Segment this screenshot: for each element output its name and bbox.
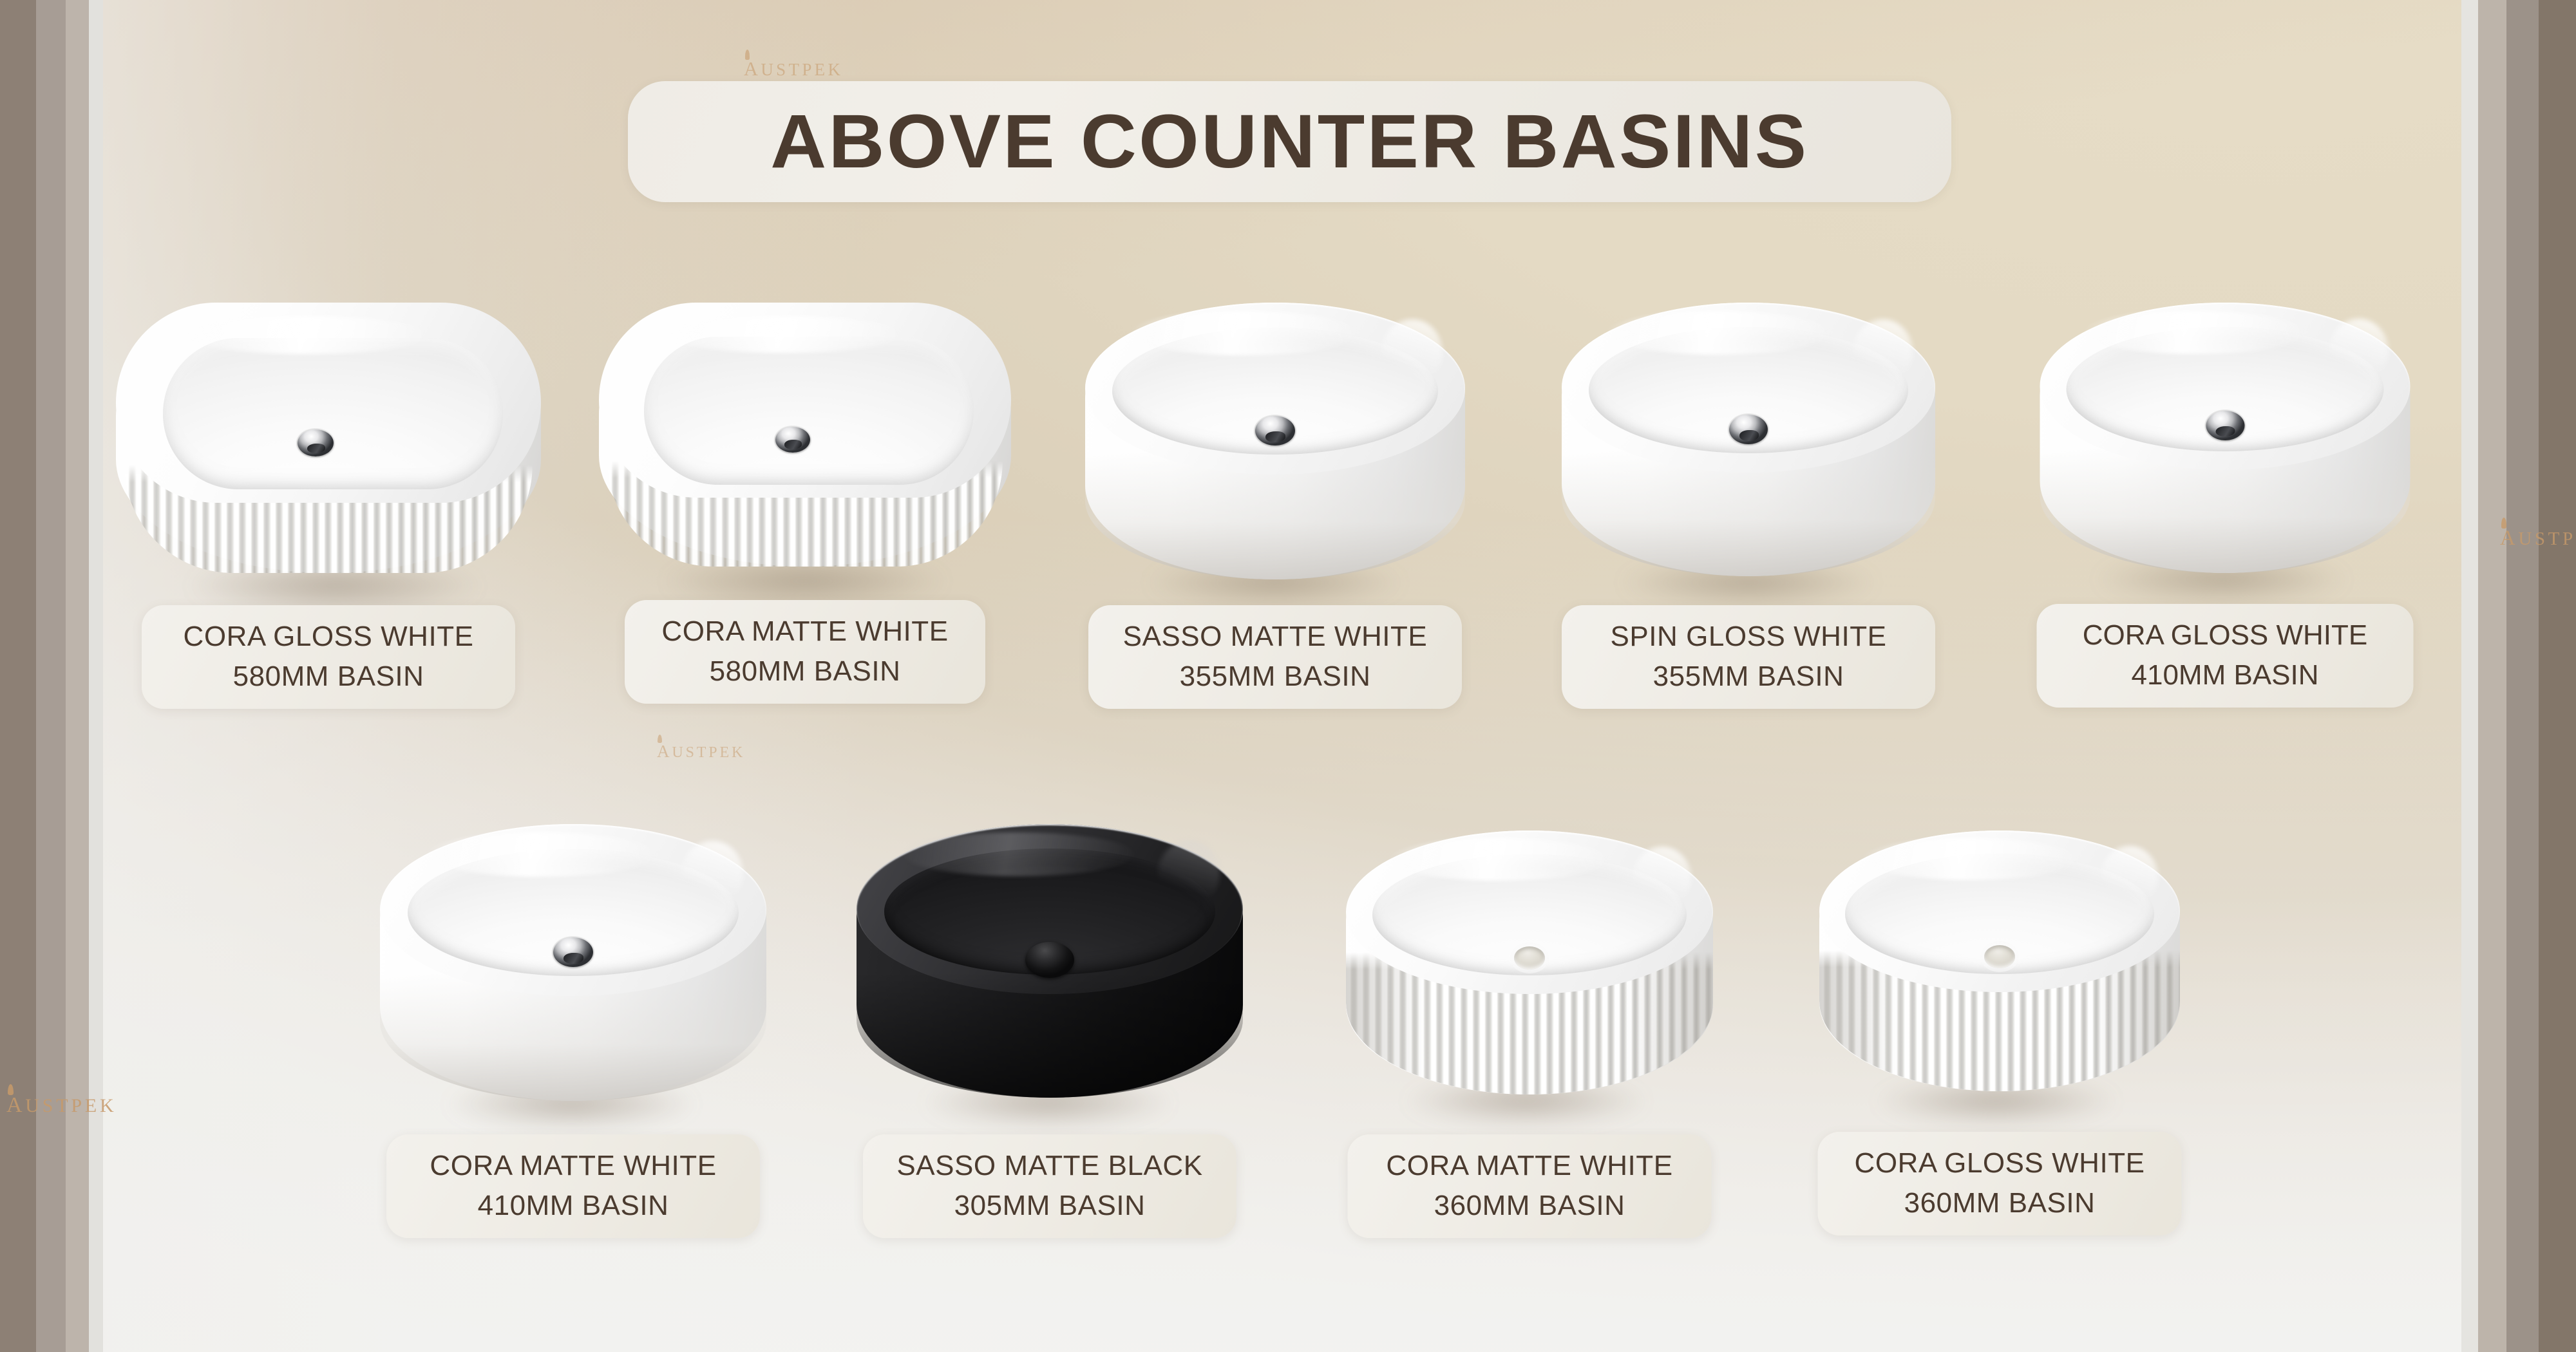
- product-name: CORA GLOSS WHITE: [1855, 1143, 2145, 1183]
- right-edge-band-1: [2539, 0, 2576, 1352]
- product-tile-6[interactable]: CORA MATTE WHITE 410MM BASIN: [374, 824, 773, 1101]
- basin-image-sasso-matte-white-355: [1085, 303, 1465, 579]
- product-label-8: CORA MATTE WHITE 360MM BASIN: [1348, 1134, 1712, 1238]
- product-name: CORA MATTE WHITE: [1386, 1146, 1672, 1186]
- basin-image-cora-gloss-white-580: [116, 303, 541, 573]
- product-label-7: SASSO MATTE BLACK 305MM BASIN: [863, 1134, 1236, 1238]
- left-edge-band-1: [0, 0, 36, 1352]
- drain-icon: [2206, 411, 2244, 440]
- page-title: ABOVE COUNTER BASINS: [770, 104, 1808, 180]
- right-edge-band-4: [2461, 0, 2478, 1352]
- drain-icon: [553, 937, 593, 967]
- right-edge-band-3: [2478, 0, 2506, 1352]
- product-label-1: CORA GLOSS WHITE 580MM BASIN: [142, 605, 515, 709]
- basin-image-cora-matte-white-580: [599, 303, 1011, 567]
- product-name: CORA MATTE WHITE: [661, 612, 948, 652]
- product-name: SASSO MATTE BLACK: [896, 1146, 1202, 1186]
- drain-icon: [1025, 942, 1074, 978]
- product-size: 355MM BASIN: [1653, 657, 1844, 697]
- product-name: CORA GLOSS WHITE: [184, 617, 474, 657]
- left-edge-band-4: [89, 0, 103, 1352]
- drain-icon: [1729, 415, 1768, 444]
- product-name: CORA GLOSS WHITE: [2083, 615, 2368, 655]
- product-size: 580MM BASIN: [710, 652, 901, 691]
- brand-watermark-top: AUSTPEK: [744, 58, 843, 80]
- basin-image-cora-matte-white-410: [380, 824, 766, 1101]
- product-size: 305MM BASIN: [954, 1186, 1146, 1226]
- basin-image-cora-gloss-white-360: [1819, 831, 2180, 1091]
- basin-image-cora-gloss-white-410: [2040, 303, 2410, 573]
- drain-icon: [1255, 416, 1295, 446]
- product-label-9: CORA GLOSS WHITE 360MM BASIN: [1818, 1132, 2182, 1235]
- product-tile-7[interactable]: SASSO MATTE BLACK 305MM BASIN: [850, 824, 1249, 1098]
- basin-image-spin-gloss-white-355: [1562, 303, 1935, 576]
- product-tile-4[interactable]: SPIN GLOSS WHITE 355MM BASIN: [1542, 303, 1955, 576]
- drain-icon: [298, 429, 334, 456]
- left-edge-band-3: [66, 0, 89, 1352]
- basin-image-cora-matte-white-360: [1346, 831, 1713, 1094]
- product-size: 410MM BASIN: [478, 1186, 669, 1226]
- brand-watermark-middle: AUSTPEK: [657, 742, 745, 762]
- product-tile-3[interactable]: SASSO MATTE WHITE 355MM BASIN: [1069, 303, 1481, 579]
- product-name: CORA MATTE WHITE: [430, 1146, 716, 1186]
- brand-watermark-right: AUSTPEK: [2500, 527, 2576, 550]
- product-name: SPIN GLOSS WHITE: [1611, 617, 1887, 657]
- title-banner: ABOVE COUNTER BASINS: [628, 81, 1951, 202]
- product-size: 360MM BASIN: [1904, 1183, 2096, 1223]
- brand-watermark-left: AUSTPEK: [6, 1093, 117, 1118]
- left-edge-band-2: [36, 0, 66, 1352]
- drain-icon: [1514, 946, 1545, 970]
- product-label-5: CORA GLOSS WHITE 410MM BASIN: [2037, 604, 2414, 708]
- product-name: SASSO MATTE WHITE: [1123, 617, 1428, 657]
- product-size: 410MM BASIN: [2132, 655, 2319, 695]
- drain-icon: [1984, 945, 2015, 968]
- product-tile-9[interactable]: CORA GLOSS WHITE 360MM BASIN: [1806, 831, 2193, 1091]
- product-tile-8[interactable]: CORA MATTE WHITE 360MM BASIN: [1336, 831, 1723, 1094]
- product-size: 360MM BASIN: [1434, 1186, 1625, 1226]
- basin-image-sasso-matte-black-305: [857, 824, 1243, 1098]
- product-size: 580MM BASIN: [233, 657, 424, 697]
- product-label-4: SPIN GLOSS WHITE 355MM BASIN: [1562, 605, 1935, 709]
- product-label-3: SASSO MATTE WHITE 355MM BASIN: [1088, 605, 1462, 709]
- drain-icon: [775, 427, 810, 453]
- product-tile-5[interactable]: CORA GLOSS WHITE 410MM BASIN: [2019, 303, 2431, 573]
- product-label-2: CORA MATTE WHITE 580MM BASIN: [625, 600, 985, 704]
- product-label-6: CORA MATTE WHITE 410MM BASIN: [386, 1134, 760, 1238]
- product-catalogue-poster: AUSTPEK AUSTPEK AUSTPEK AUSTPEK ABOVE CO…: [0, 0, 2576, 1352]
- product-size: 355MM BASIN: [1180, 657, 1371, 697]
- right-edge-band-2: [2506, 0, 2539, 1352]
